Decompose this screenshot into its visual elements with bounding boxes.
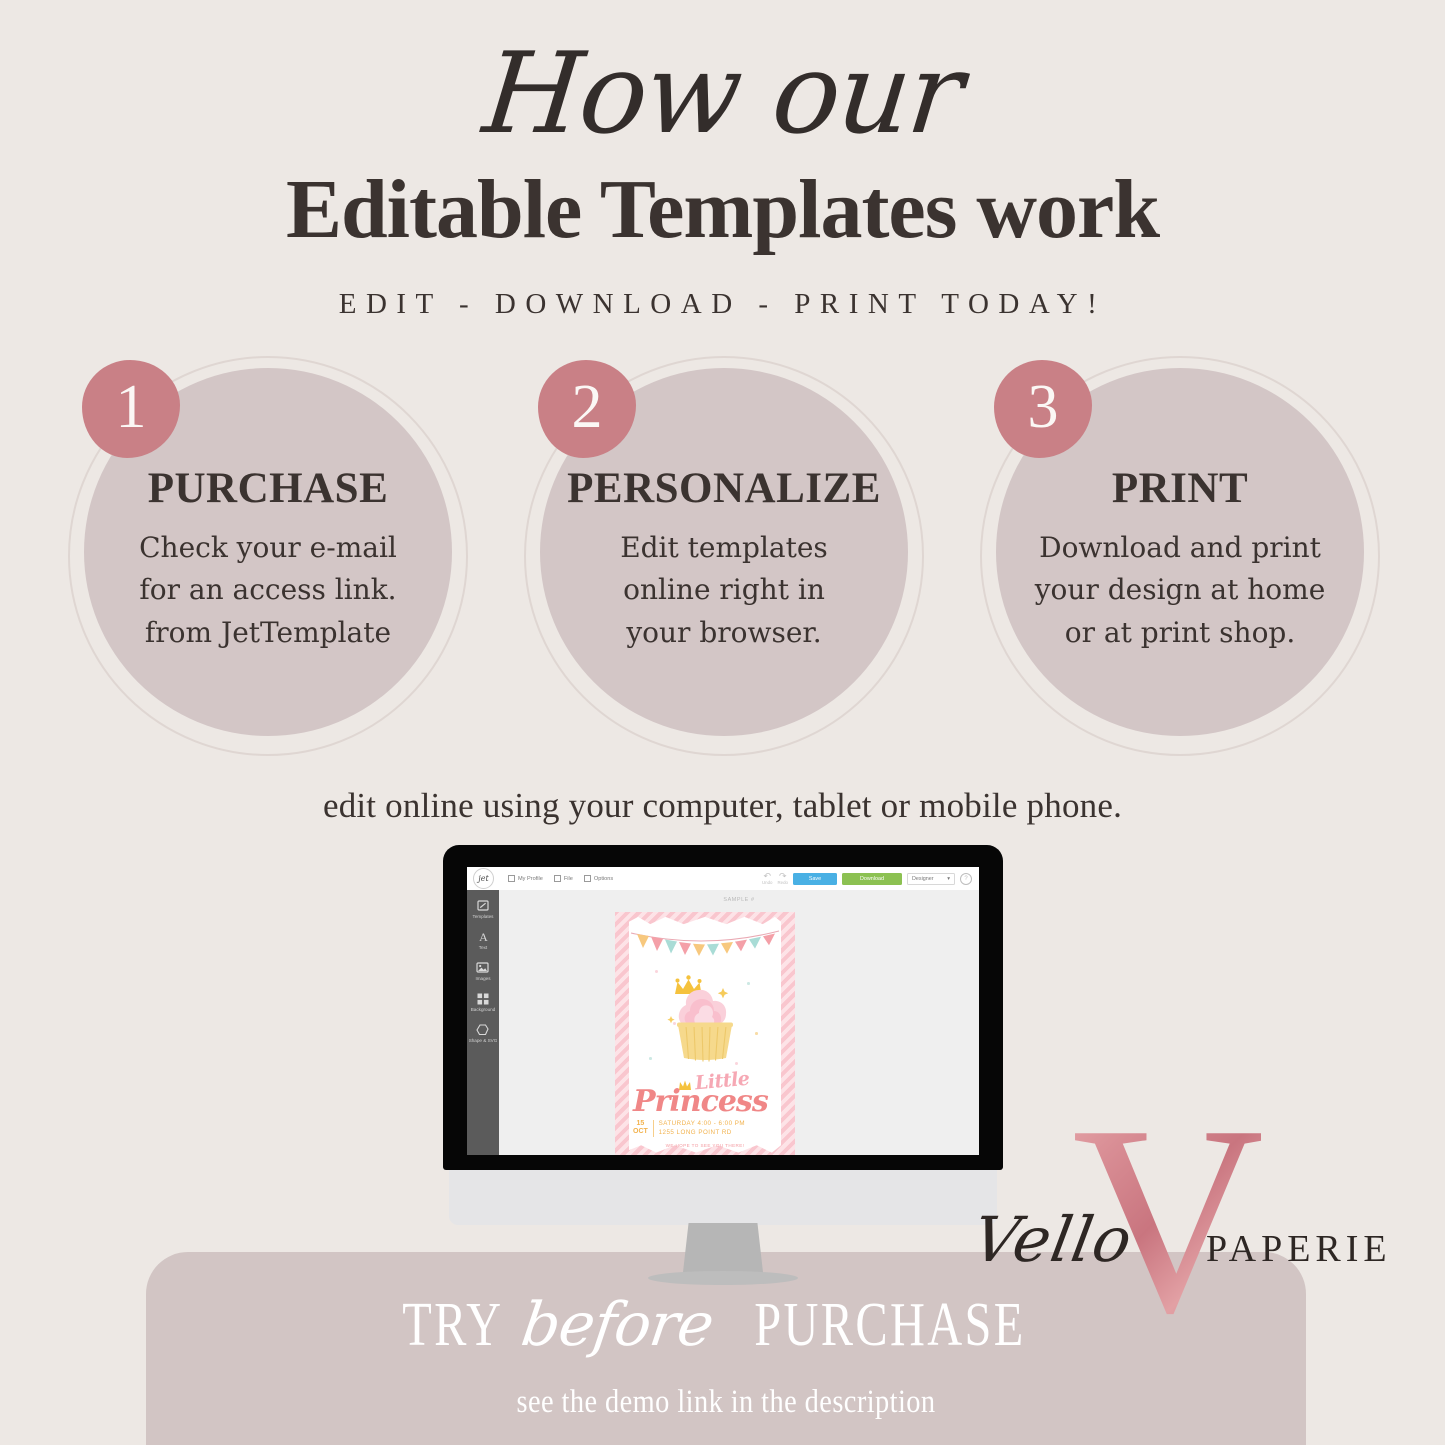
- step-desc-line: your design at home: [1035, 569, 1326, 612]
- sidebar-item-templates[interactable]: Templates: [473, 899, 494, 919]
- sidebar-item-text[interactable]: A Text: [476, 930, 490, 950]
- menu-item-file[interactable]: File: [554, 875, 573, 882]
- card-details: SATURDAY 4:00 - 6:00 PM 1255 LONG POINT …: [659, 1119, 745, 1138]
- card-note: WE HOPE TO SEE YOU THERE!: [615, 1143, 795, 1148]
- canvas-sample-label: SAMPLE #: [499, 897, 979, 903]
- editor-screen: jet My Profile File Options: [467, 867, 979, 1155]
- step-card-1: PURCHASE Check your e-mail for an access…: [68, 356, 468, 756]
- save-button[interactable]: Save: [793, 873, 837, 885]
- desktop-monitor-mockup: jet My Profile File Options: [443, 845, 1003, 1265]
- step-desc-line: Check your e-mail: [139, 527, 397, 570]
- bunting-decoration: [629, 924, 781, 960]
- step-description: Edit templates online right in your brow…: [620, 527, 828, 655]
- designer-label: Designer: [912, 876, 934, 882]
- step-title: PRINT: [1112, 464, 1248, 513]
- jet-logo-icon[interactable]: jet: [473, 868, 494, 889]
- step-desc-line: online right in: [620, 569, 828, 612]
- banner-title-before: before: [517, 1290, 717, 1360]
- download-button[interactable]: Download: [842, 873, 902, 885]
- designer-dropdown[interactable]: Designer ▾: [907, 873, 955, 885]
- step-desc-line: from JetTemplate: [139, 612, 397, 655]
- menu-item-options[interactable]: Options: [584, 875, 613, 882]
- editor-canvas[interactable]: SAMPLE #: [499, 890, 979, 1155]
- sidebar-label: Shape & SVG: [469, 1038, 498, 1043]
- step-desc-line: Download and print: [1035, 527, 1326, 570]
- invitation-card-preview[interactable]: Little Princess 15 OCT SATURDAY 4:00 - 6…: [615, 912, 795, 1155]
- step-title: PURCHASE: [148, 464, 389, 513]
- sidebar-label: Text: [479, 945, 487, 950]
- monitor-chin: [449, 1170, 997, 1225]
- step-title: PERSONALIZE: [567, 464, 881, 513]
- sidebar-label: Templates: [473, 914, 494, 919]
- sidebar-item-images[interactable]: Images: [475, 961, 490, 981]
- sidebar-label: Background: [471, 1007, 496, 1012]
- step-desc-line: your browser.: [620, 612, 828, 655]
- header-main-title: Editable Templates work: [0, 168, 1445, 252]
- svg-text:A: A: [479, 930, 488, 943]
- card-detail-line: 1255 LONG POINT RD: [659, 1128, 745, 1137]
- undo-label: Undo: [762, 880, 773, 885]
- step-description: Download and print your design at home o…: [1035, 527, 1326, 655]
- menu-label: Options: [594, 876, 613, 882]
- editor-toolbar-actions: ↶ Undo ↷ Redo Save Download Designer ▾ ?: [762, 872, 972, 885]
- header-script-line: How our: [0, 36, 1445, 154]
- help-icon[interactable]: ?: [960, 873, 972, 885]
- menu-label: My Profile: [518, 876, 543, 882]
- cupcake-illustration: [649, 958, 761, 1063]
- undo-arrow-icon: ↶: [763, 872, 771, 880]
- card-detail-line: SATURDAY 4:00 - 6:00 PM: [659, 1119, 745, 1128]
- card-date-day: 15: [633, 1120, 648, 1129]
- poster-canvas: How our Editable Templates work EDIT - D…: [0, 0, 1445, 1445]
- step-card-2: PERSONALIZE Edit templates online right …: [524, 356, 924, 756]
- step-desc-line: Edit templates: [620, 527, 828, 570]
- menu-label: File: [564, 876, 573, 882]
- chevron-down-icon: ▾: [947, 876, 950, 882]
- text-icon: A: [476, 930, 490, 943]
- banner-subtitle: see the demo link in the description: [227, 1384, 1225, 1421]
- step-desc-line: or at print shop.: [1035, 612, 1326, 655]
- step-desc-line: for an access link.: [139, 569, 397, 612]
- edit-online-note: edit online using your computer, tablet …: [0, 786, 1445, 826]
- redo-label: Redo: [778, 880, 789, 885]
- redo-arrow-icon: ↷: [779, 872, 787, 880]
- redo-button[interactable]: ↷ Redo: [778, 872, 789, 885]
- card-date-month: OCT: [633, 1128, 648, 1137]
- shape-svg-icon: [476, 1023, 490, 1036]
- logo-paperie-word: PAPERIE: [1206, 1227, 1392, 1271]
- undo-button[interactable]: ↶ Undo: [762, 872, 773, 885]
- images-icon: [476, 961, 490, 974]
- editor-menu: My Profile File Options: [508, 875, 613, 882]
- card-title-large: Princess: [633, 1084, 768, 1119]
- brand-logo: V Vello PAPERIE: [960, 1085, 1380, 1305]
- templates-icon: [476, 899, 490, 912]
- header-subtitle: EDIT - DOWNLOAD - PRINT TODAY!: [0, 288, 1445, 321]
- sidebar-item-background[interactable]: Background: [471, 992, 496, 1012]
- sidebar-item-shape-svg[interactable]: Shape & SVG: [469, 1023, 498, 1043]
- menu-item-my-profile[interactable]: My Profile: [508, 875, 543, 882]
- editor-sidebar: Templates A Text Images: [467, 890, 499, 1155]
- step-card-3: PRINT Download and print your design at …: [980, 356, 1380, 756]
- step-description: Check your e-mail for an access link. fr…: [139, 527, 397, 655]
- background-icon: [476, 992, 490, 1005]
- banner-title-try: TRY: [402, 1290, 503, 1361]
- card-date: 15 OCT: [633, 1120, 648, 1138]
- editor-toolbar: jet My Profile File Options: [467, 867, 979, 891]
- sliders-icon: [584, 875, 591, 882]
- file-icon: [554, 875, 561, 882]
- card-event-info: 15 OCT SATURDAY 4:00 - 6:00 PM 1255 LONG…: [633, 1119, 753, 1138]
- monitor-stand-foot: [648, 1271, 798, 1285]
- user-icon: [508, 875, 515, 882]
- steps-row: PURCHASE Check your e-mail for an access…: [0, 356, 1445, 756]
- sidebar-label: Images: [475, 976, 490, 981]
- logo-script-name: Vello: [968, 1203, 1139, 1276]
- divider: [653, 1120, 654, 1137]
